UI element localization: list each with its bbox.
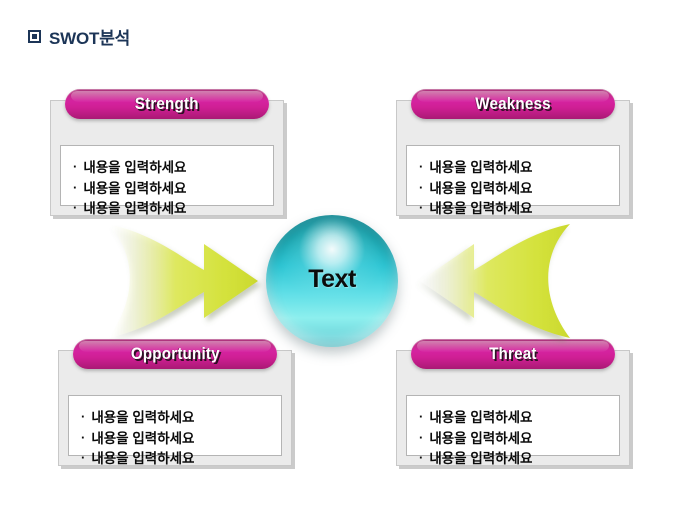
quadrant-header-weakness[interactable]: Weakness — [411, 89, 615, 119]
list-item-label: 내용을 입력하세요 — [91, 429, 194, 450]
quadrant-header-label: Threat — [489, 345, 537, 364]
quadrant-header-label: Strength — [135, 95, 199, 114]
bullet-dot-icon: · — [419, 160, 423, 173]
list-item: · 내용을 입력하세요 — [419, 158, 609, 179]
list-item: · 내용을 입력하세요 — [73, 179, 263, 200]
list-item: · 내용을 입력하세요 — [419, 199, 609, 220]
list-item: · 내용을 입력하세요 — [419, 429, 609, 450]
list-item: · 내용을 입력하세요 — [81, 429, 271, 450]
list-item-label: 내용을 입력하세요 — [429, 199, 532, 220]
list-item-label: 내용을 입력하세요 — [429, 408, 532, 429]
bullet-dot-icon: · — [73, 201, 77, 214]
list-item-label: 내용을 입력하세요 — [429, 179, 532, 200]
list-item: · 내용을 입력하세요 — [73, 199, 263, 220]
list-item: · 내용을 입력하세요 — [419, 179, 609, 200]
quadrant-header-label: Opportunity — [131, 345, 220, 364]
list-item: · 내용을 입력하세요 — [419, 408, 609, 429]
center-sphere[interactable]: Text — [266, 215, 398, 347]
bullet-dot-icon: · — [73, 160, 77, 173]
list-item-label: 내용을 입력하세요 — [429, 449, 532, 470]
list-item: · 내용을 입력하세요 — [73, 158, 263, 179]
page-title-label: SWOT분석 — [49, 24, 130, 49]
quadrant-card-opportunity[interactable]: Opportunity · 내용을 입력하세요 · 내용을 입력하세요 · 내용… — [58, 350, 292, 466]
list-item-label: 내용을 입력하세요 — [83, 158, 186, 179]
bullet-dot-icon: · — [81, 451, 85, 464]
bullet-dot-icon: · — [81, 410, 85, 423]
bullet-dot-icon: · — [81, 431, 85, 444]
list-item: · 내용을 입력하세요 — [81, 449, 271, 470]
list-item-label: 내용을 입력하세요 — [429, 158, 532, 179]
page-title: SWOT분석 — [28, 24, 130, 49]
list-item-label: 내용을 입력하세요 — [429, 429, 532, 450]
quadrant-header-label: Weakness — [475, 95, 550, 114]
quadrant-header-strength[interactable]: Strength — [65, 89, 269, 119]
list-item-label: 내용을 입력하세요 — [91, 408, 194, 429]
arrow-right-icon — [398, 218, 570, 344]
list-item: · 내용을 입력하세요 — [81, 408, 271, 429]
bullet-dot-icon: · — [419, 201, 423, 214]
list-item-label: 내용을 입력하세요 — [83, 199, 186, 220]
list-item-label: 내용을 입력하세요 — [83, 179, 186, 200]
bullet-dot-icon: · — [419, 181, 423, 194]
quadrant-card-threat[interactable]: Threat · 내용을 입력하세요 · 내용을 입력하세요 · 내용을 입력하… — [396, 350, 630, 466]
quadrant-card-strength[interactable]: Strength · 내용을 입력하세요 · 내용을 입력하세요 · 내용을 입… — [50, 100, 284, 216]
quadrant-body-strength: · 내용을 입력하세요 · 내용을 입력하세요 · 내용을 입력하세요 — [60, 145, 274, 206]
quadrant-card-weakness[interactable]: Weakness · 내용을 입력하세요 · 내용을 입력하세요 · 내용을 입… — [396, 100, 630, 216]
list-item-label: 내용을 입력하세요 — [91, 449, 194, 470]
filled-square-icon — [28, 30, 41, 43]
bullet-dot-icon: · — [419, 451, 423, 464]
bullet-dot-icon: · — [419, 431, 423, 444]
quadrant-body-weakness: · 내용을 입력하세요 · 내용을 입력하세요 · 내용을 입력하세요 — [406, 145, 620, 206]
bullet-dot-icon: · — [419, 410, 423, 423]
arrow-left-icon — [108, 218, 280, 344]
center-sphere-label: Text — [308, 265, 356, 294]
quadrant-body-threat: · 내용을 입력하세요 · 내용을 입력하세요 · 내용을 입력하세요 — [406, 395, 620, 456]
quadrant-body-opportunity: · 내용을 입력하세요 · 내용을 입력하세요 · 내용을 입력하세요 — [68, 395, 282, 456]
swot-slide: SWOT분석 — [0, 0, 680, 510]
list-item: · 내용을 입력하세요 — [419, 449, 609, 470]
bullet-dot-icon: · — [73, 181, 77, 194]
